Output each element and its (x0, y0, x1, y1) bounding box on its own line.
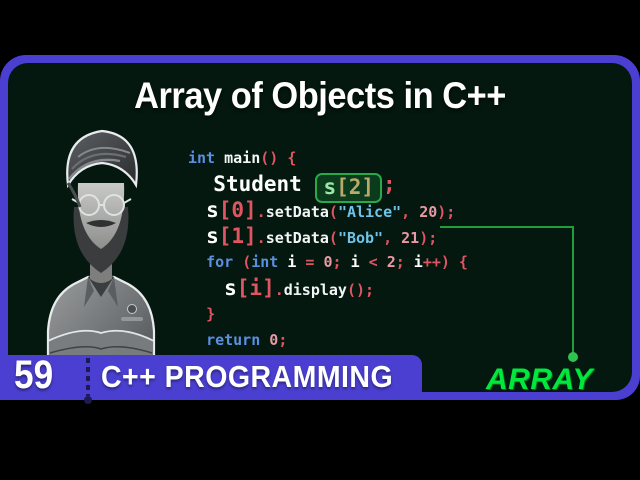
code-line: return 0; (188, 327, 468, 353)
code-token: ; (333, 253, 351, 271)
code-token: int (188, 149, 224, 167)
code-token: "Bob" (338, 229, 383, 247)
divider-dot (84, 396, 92, 404)
code-line: s[0].setData("Alice", 20); (188, 197, 468, 223)
code-token: ); (437, 203, 455, 221)
annotation-line-horizontal (440, 226, 574, 228)
code-token: } (206, 305, 215, 323)
presenter-photo (28, 121, 174, 392)
code-token: [i] (237, 276, 275, 300)
code-token: setData (266, 229, 329, 247)
code-token: 21 (401, 229, 419, 247)
annotation-endpoint-dot (568, 352, 578, 362)
code-token: for (206, 253, 242, 271)
code-token: < (360, 253, 387, 271)
code-token: ) { (441, 253, 468, 271)
code-token: [0] (219, 198, 257, 222)
code-token: i (414, 253, 423, 271)
code-token: ; (383, 172, 396, 196)
code-token: "Alice" (338, 203, 401, 221)
course-label: C++ PROGRAMMING (101, 357, 393, 397)
code-token: 0 (269, 331, 278, 349)
code-token: s (206, 198, 219, 222)
code-token: s (206, 224, 219, 248)
content-frame: Array of Objects in C++ int main() { Stu… (0, 55, 640, 400)
code-token: . (257, 203, 266, 221)
code-token: ; (396, 253, 414, 271)
code-token: int (251, 253, 287, 271)
annotation-line-vertical (572, 226, 574, 356)
code-token: return (206, 331, 269, 349)
code-line: s[1].setData("Bob", 21); (188, 223, 468, 249)
code-token: ( (242, 253, 251, 271)
code-token: () (260, 149, 278, 167)
code-token: , (383, 229, 401, 247)
code-token: setData (266, 203, 329, 221)
code-token: ++ (423, 253, 441, 271)
code-token: 2 (387, 253, 396, 271)
code-token: [1] (219, 224, 257, 248)
code-token: main (224, 149, 260, 167)
code-token: Student (213, 172, 314, 196)
dashed-divider (86, 358, 90, 396)
annotation-label-array: ARRAY (486, 363, 593, 392)
page-title: Array of Objects in C++ (30, 77, 610, 114)
code-token: ( (329, 203, 338, 221)
code-token: s (224, 276, 237, 300)
code-line: for (int i = 0; i < 2; i++) { (188, 249, 468, 275)
code-token: 0 (323, 253, 332, 271)
code-line: Student s[2]; (188, 171, 468, 197)
episode-number: 59 (14, 353, 53, 398)
code-token: . (257, 229, 266, 247)
code-line: } (188, 301, 468, 327)
code-line: int main() { (188, 145, 468, 171)
code-token: ( (329, 229, 338, 247)
code-token: = (296, 253, 323, 271)
code-block: int main() { Student s[2]; s[0].setData(… (188, 145, 468, 353)
code-token: . (275, 281, 284, 299)
content-surface: Array of Objects in C++ int main() { Stu… (8, 63, 632, 392)
code-token: , (401, 203, 419, 221)
code-token: 20 (419, 203, 437, 221)
video-thumbnail: Array of Objects in C++ int main() { Stu… (0, 0, 640, 480)
code-token: ); (419, 229, 437, 247)
code-line: s[i].display(); (188, 275, 468, 301)
code-token: { (278, 149, 296, 167)
code-token: (); (347, 281, 374, 299)
code-token: display (284, 281, 347, 299)
code-token: ; (278, 331, 287, 349)
code-token: i (351, 253, 360, 271)
